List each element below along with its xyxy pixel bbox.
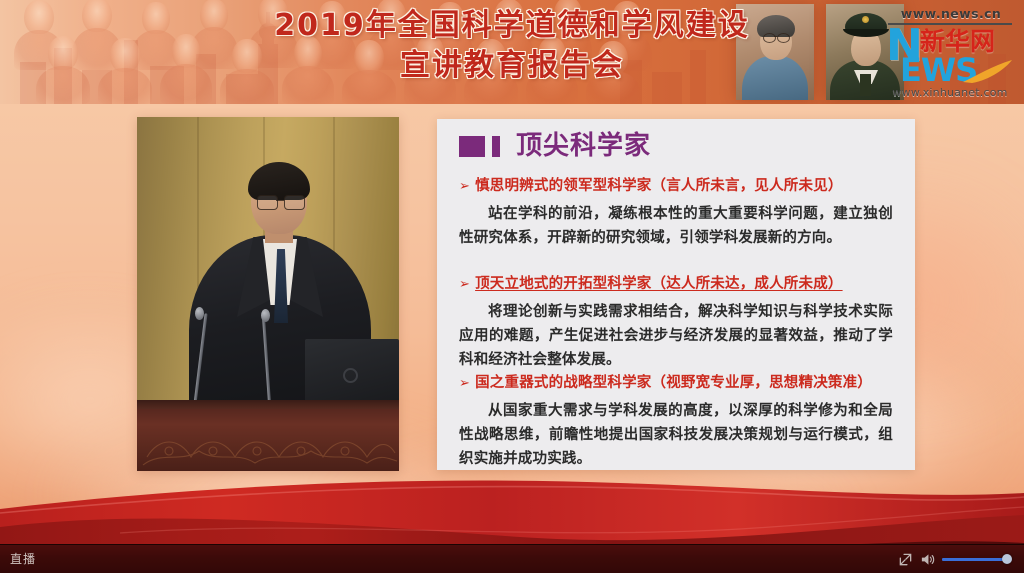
player-controls [898,549,1008,569]
slide-section-1-body: 站在学科的前沿，凝练根本性的重大重要科学问题，建立独创性研究体系，开辟新的研究领… [437,202,915,250]
slide-title-row: 顶尖科学家 [459,133,651,159]
speaker-glasses-icon [257,195,303,208]
logo-url-bottom: www.xinhuanet.com [884,86,1016,99]
player-control-bar: 直播 [0,544,1024,573]
slide-section-2-heading: ➢ 顶天立地式的开拓型科学家（达人所未达，成人所未成） [437,275,915,294]
speaker-video-frame [137,117,399,471]
slide-section-2-heading-text: 顶天立地式的开拓型科学家（达人所未达，成人所未成） [475,275,843,294]
fullscreen-icon[interactable] [898,552,913,567]
slide-section-2-body: 将理论创新与实践需求相结合，解决科学知识与科学技术实际应用的难题，产生促进社会进… [437,300,915,372]
volume-slider-fill [942,558,1008,561]
logo-url-top: www.news.cn [886,6,1016,21]
podium-edge [137,400,399,409]
event-banner: 2019年全国科学道德和学风建设 宣讲教育报告会 www.news.cn N 新… [0,0,1024,104]
slide-title: 顶尖科学家 [516,133,651,159]
bullet-arrow-icon: ➢ [459,374,470,393]
microphone-head-left [195,307,204,320]
live-stream-player: 2019年全国科学道德和学风建设 宣讲教育报告会 www.news.cn N 新… [0,0,1024,573]
slide-section-1-heading: ➢ 慎思明辨式的领军型科学家（言人所未言，见人所未见） [437,177,915,196]
honoree-portrait-1 [736,4,814,100]
podium-carving-pattern [137,417,399,471]
slide-section-1: ➢ 慎思明辨式的领军型科学家（言人所未言，见人所未见） 站在学科的前沿，凝练根本… [437,177,915,250]
scientist-portrait-wall [0,0,700,104]
volume-slider[interactable] [942,558,1008,561]
presentation-slide: 顶尖科学家 ➢ 慎思明辨式的领军型科学家（言人所未言，见人所未见） 站在学科的前… [437,119,915,470]
slide-section-3-heading: ➢ 国之重器式的战略型科学家（视野宽专业厚，思想精决策准） [437,374,915,393]
xinhuanet-logo[interactable]: www.news.cn N 新华网 EWS www.xinhuanet.com [884,6,1016,100]
volume-slider-handle[interactable] [1002,554,1012,564]
slide-bullet-square-wide-icon [459,136,485,157]
laptop-dial-icon [343,368,358,383]
slide-section-3-body: 从国家重大需求与学科发展的高度，以深厚的科学修为和全局性战略思维，前瞻性地提出国… [437,399,915,471]
live-badge: 直播 [10,551,36,567]
logo-swoosh-icon [962,58,1014,84]
bullet-arrow-icon: ➢ [459,177,470,196]
slide-section-3-heading-text: 国之重器式的战略型科学家（视野宽专业厚，思想精决策准） [475,374,872,393]
slide-section-2: ➢ 顶天立地式的开拓型科学家（达人所未达，成人所未成） 将理论创新与实践需求相结… [437,275,915,372]
bullet-arrow-icon: ➢ [459,275,470,294]
microphone-head-right [261,309,270,322]
slide-bullet-square-narrow-icon [492,136,500,157]
volume-icon[interactable] [920,552,935,567]
slide-section-1-heading-text: 慎思明辨式的领军型科学家（言人所未言，见人所未见） [475,177,843,196]
slide-section-3: ➢ 国之重器式的战略型科学家（视野宽专业厚，思想精决策准） 从国家重大需求与学科… [437,374,915,471]
